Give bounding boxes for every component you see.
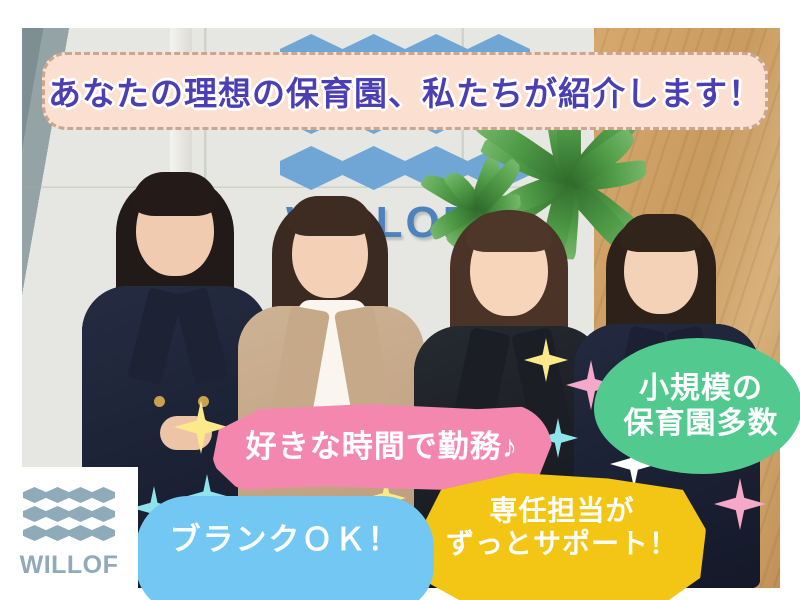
headline-banner: あなたの理想の保育園、私たちが紹介します！ (42, 52, 768, 130)
person-2-fringe (288, 196, 372, 236)
ad-banner: WILLOF (0, 0, 800, 600)
callout-yellow: 専任担当がずっとサポート！ (418, 470, 706, 600)
person-1-hands (160, 416, 212, 450)
brand-logo-chevron-row-2 (23, 506, 115, 522)
person-1-fringe (132, 172, 218, 216)
callout-blue-text: ブランクＯＫ！ (170, 522, 401, 559)
headline-text: あなたの理想の保育園、私たちが紹介します！ (48, 67, 762, 115)
callout-pink-text: 好きな時間で勤務♪ (246, 429, 519, 466)
person-4-fringe (620, 214, 702, 252)
person-3-fringe (466, 212, 552, 252)
brand-logo-chevron-row-1 (23, 487, 115, 503)
callout-blue: ブランクＯＫ！ (136, 496, 434, 600)
callout-yellow-text: 専任担当がずっとサポート！ (446, 494, 678, 560)
person-1-button-1 (154, 396, 165, 407)
brand-logo-chevron-row-3 (23, 525, 115, 541)
brand-logo-wordmark: WILLOF (20, 551, 119, 580)
brand-logo-card: WILLOF (0, 467, 138, 600)
callout-green: 小規模の保育園多数 (594, 338, 800, 474)
callout-green-text: 小規模の保育園多数 (624, 371, 779, 442)
person-1-button-2 (198, 396, 209, 407)
